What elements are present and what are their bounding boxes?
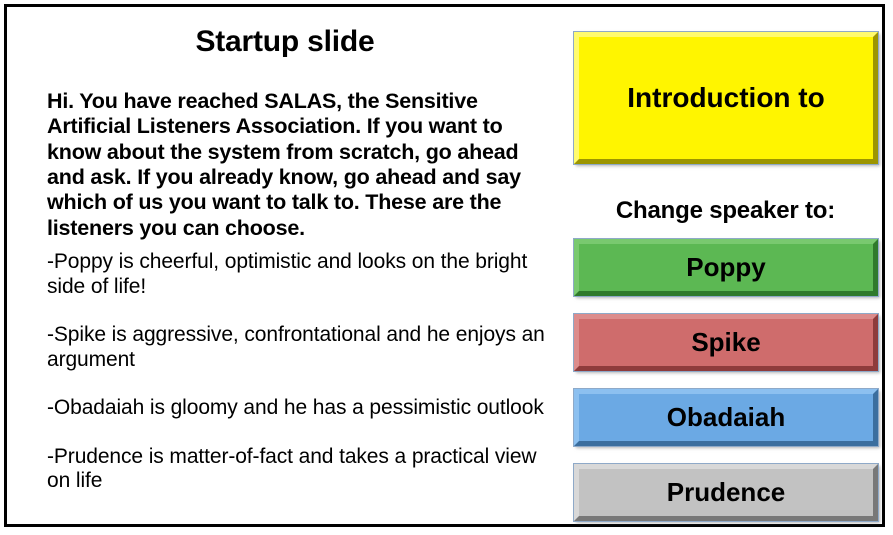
list-item: -Poppy is cheerful, optimistic and looks… [47,250,557,299]
change-speaker-label: Change speaker to: [563,197,888,225]
intro-paragraph: Hi. You have reached SALAS, the Sensitiv… [47,89,542,241]
speaker-button-poppy[interactable]: Poppy [574,239,878,296]
slide-text-column: Startup slide Hi. You have reached SALAS… [7,7,563,524]
speaker-button-obadaiah[interactable]: Obadaiah [574,389,878,446]
introduction-to-button[interactable]: Introduction to [574,32,878,164]
slide-frame: Startup slide Hi. You have reached SALAS… [4,4,885,527]
list-item: -Spike is aggressive, confrontational an… [47,323,557,372]
listener-description-list: -Poppy is cheerful, optimistic and looks… [47,250,557,518]
speaker-button-prudence[interactable]: Prudence [574,464,878,521]
list-item: -Prudence is matter-of-fact and takes a … [47,445,557,494]
page-title: Startup slide [7,25,563,59]
speaker-button-spike[interactable]: Spike [574,314,878,371]
list-item: -Obadaiah is gloomy and he has a pessimi… [47,396,557,421]
slide-controls-column: Introduction to Change speaker to: Poppy… [563,7,888,524]
